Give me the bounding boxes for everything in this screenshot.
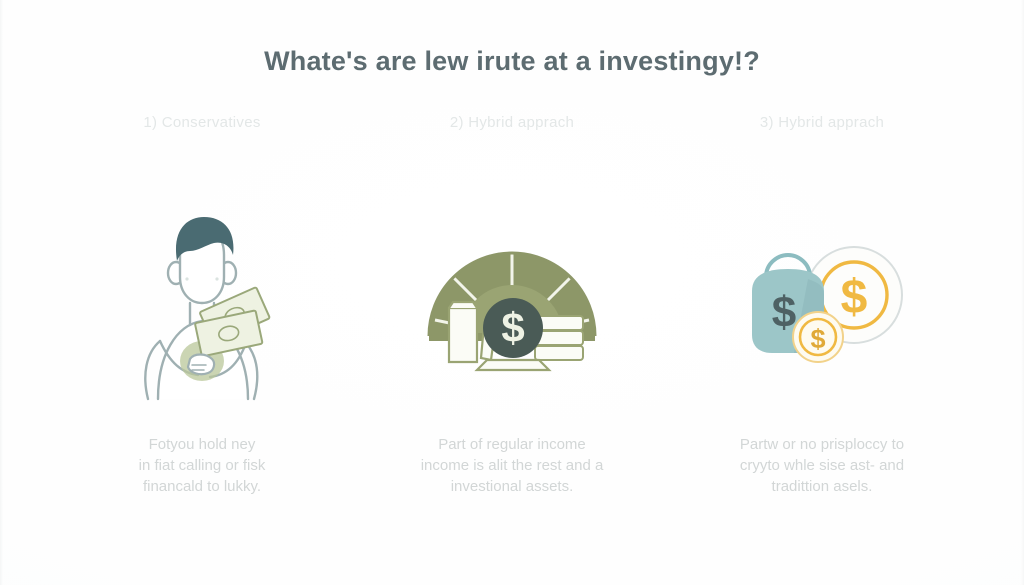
column-heading-1: 1) Conservatives <box>143 112 260 134</box>
person-holding-cash-illustration <box>82 188 322 418</box>
column-body-3: Partw or no prisploccy to cryyto whle si… <box>740 434 904 497</box>
money-bag-with-gold-coins-illustration: $ $ $ <box>702 188 942 418</box>
svg-text:$: $ <box>810 324 825 354</box>
column-hybrid-apprach-3: 3) Hybrid apprach $ $ $ <box>672 112 972 497</box>
svg-text:$: $ <box>501 304 524 351</box>
column-conservatives: 1) Conservatives <box>52 112 352 497</box>
svg-text:$: $ <box>841 271 868 324</box>
page-title: Whate's are lew irute at a investingy!? <box>0 46 1024 77</box>
column-hybrid-apprach-2: 2) Hybrid apprach <box>362 112 662 497</box>
svg-text:$: $ <box>772 288 796 337</box>
slide-canvas: Whate's are lew irute at a investingy!? … <box>0 0 1024 585</box>
columns-container: 1) Conservatives <box>52 112 972 497</box>
coin-fan-with-money-bag-illustration: $ <box>392 188 632 418</box>
column-heading-3: 3) Hybrid apprach <box>760 112 884 134</box>
column-body-1: Fotyou hold ney in fiat calling or fisk … <box>139 434 266 497</box>
column-heading-2: 2) Hybrid apprach <box>450 112 574 134</box>
column-body-2: Part of regular income income is alit th… <box>421 434 604 497</box>
